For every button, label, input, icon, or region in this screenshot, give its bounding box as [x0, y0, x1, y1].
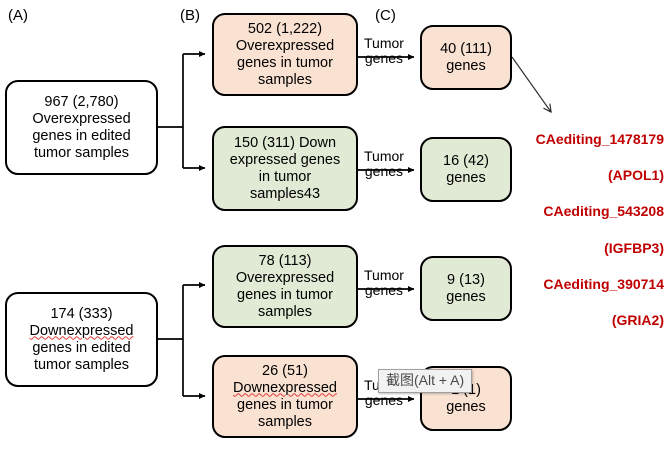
node-line: genes in edited	[32, 128, 130, 144]
node-line-misspelled: Downexpressed	[233, 380, 337, 396]
node-line: genes in edited	[32, 340, 130, 356]
edge-label-tumor-genes-3: Tumor genes	[364, 268, 404, 298]
node-line: 40 (111)	[440, 41, 492, 57]
node-line: Overexpressed	[32, 111, 130, 127]
edge-label-line: Tumor	[364, 148, 404, 164]
panel-label-b: (B)	[180, 8, 200, 23]
edge-label-line: genes	[365, 392, 403, 408]
gene-label-caediting-1478179: CAediting_1478179	[536, 131, 664, 147]
node-line: genes	[446, 58, 486, 74]
node-line: samples	[258, 414, 312, 430]
node-line: tumor samples	[34, 357, 129, 373]
panel-label-c: (C)	[375, 8, 396, 23]
gene-label-caediting-543208: CAediting_543208	[543, 203, 664, 219]
screenshot-shortcut-tooltip: 截图(Alt + A)	[378, 369, 472, 393]
node-line: 967 (2,780)	[44, 94, 118, 110]
gene-label-gria2: (GRIA2)	[612, 312, 664, 328]
node-b-overexpressed-upper: 502 (1,222) Overexpressed genes in tumor…	[212, 13, 358, 96]
edge-label-tumor-genes-2: Tumor genes	[364, 149, 404, 179]
node-line: genes in tumor	[237, 287, 333, 303]
panel-label-a: (A)	[8, 8, 28, 23]
gene-label-igfbp3: (IGFBP3)	[604, 240, 664, 256]
edge-label-line: Tumor	[364, 35, 404, 51]
node-line: Overexpressed	[236, 270, 334, 286]
edge-label-line: genes	[365, 163, 403, 179]
node-b-overexpressed-lower: 78 (113) Overexpressed genes in tumor sa…	[212, 245, 358, 328]
node-line: 150 (311) Down	[234, 135, 336, 151]
node-line: 502 (1,222)	[248, 21, 322, 37]
gene-label-apol1: (APOL1)	[608, 167, 664, 183]
edge-label-line: genes	[365, 282, 403, 298]
edge-c1-to-gene-list	[512, 57, 551, 112]
edge-label-line: genes	[365, 50, 403, 66]
node-b-downexpressed-lower: 26 (51) Downexpressed genes in tumor sam…	[212, 355, 358, 438]
node-line: Overexpressed	[236, 38, 334, 54]
node-line: 26 (51)	[262, 363, 308, 379]
node-c-genes-1: 40 (111) genes	[420, 25, 512, 90]
node-line: 78 (113)	[259, 253, 312, 269]
node-line: 16 (42)	[443, 153, 489, 169]
node-line: expressed genes	[230, 152, 340, 168]
node-line: tumor samples	[34, 145, 129, 161]
node-line: 174 (333)	[50, 306, 112, 322]
node-c-genes-3: 9 (13) genes	[420, 256, 512, 321]
node-line: genes	[446, 289, 486, 305]
node-line: samples	[258, 304, 312, 320]
gene-label-caediting-390714: CAediting_390714	[543, 276, 664, 292]
node-line: samples	[258, 72, 312, 88]
node-c-genes-2: 16 (42) genes	[420, 137, 512, 202]
node-line: genes in tumor	[237, 55, 333, 71]
node-line: in tumor	[259, 169, 311, 185]
node-b-downexpressed-upper: 150 (311) Down expressed genes in tumor …	[212, 126, 358, 211]
node-line: samples43	[250, 186, 320, 202]
node-downexpressed-edited-tumor: 174 (333) Downexpressed genes in edited …	[5, 292, 158, 387]
node-line: genes in tumor	[237, 397, 333, 413]
node-line: genes	[446, 399, 486, 415]
node-line-misspelled: Downexpressed	[30, 323, 134, 339]
node-line: 9 (13)	[447, 272, 485, 288]
node-overexpressed-edited-tumor: 967 (2,780) Overexpressed genes in edite…	[5, 80, 158, 175]
edge-label-line: Tumor	[364, 267, 404, 283]
node-line: genes	[446, 170, 486, 186]
edge-label-tumor-genes-1: Tumor genes	[364, 36, 404, 66]
